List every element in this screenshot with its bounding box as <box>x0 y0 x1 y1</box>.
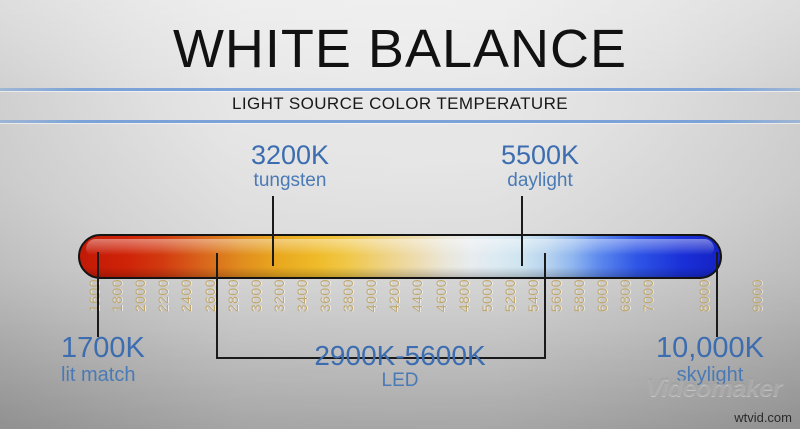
brand-watermark: Videomaker <box>646 374 782 403</box>
callout-daylight: 5500K daylight <box>450 142 630 190</box>
tick-label: 2400 <box>178 279 194 312</box>
white-balance-infographic: WHITE BALANCE LIGHT SOURCE COLOR TEMPERA… <box>0 0 800 429</box>
tick-label: 5600 <box>548 279 564 312</box>
bracket-arm-right <box>544 253 546 359</box>
tick-label: 8000 <box>696 279 712 312</box>
callout-led-temp: 2900K-5600K <box>265 342 535 371</box>
callout-led: 2900K-5600K LED <box>265 342 535 390</box>
tick-label: 7000 <box>640 279 656 312</box>
tick-label: 9000 <box>749 279 765 312</box>
tick-label: 6800 <box>617 279 633 312</box>
callout-lit-match: 1700K lit match <box>45 334 251 385</box>
callout-skylight-temp: 10,000K <box>622 334 798 364</box>
site-watermark: wtvid.com <box>734 410 792 425</box>
tick-label: 1600 <box>86 279 102 312</box>
pointer-line-skylight <box>716 252 718 337</box>
page-subtitle: LIGHT SOURCE COLOR TEMPERATURE <box>0 94 800 114</box>
divider-top <box>0 88 800 91</box>
tick-label: 5800 <box>571 279 587 312</box>
callout-daylight-temp: 5500K <box>450 142 630 170</box>
page-title: WHITE BALANCE <box>0 22 800 76</box>
divider-bottom <box>0 120 800 123</box>
callout-daylight-name: daylight <box>450 171 630 190</box>
tick-label: 1800 <box>109 279 125 312</box>
callout-tungsten-name: tungsten <box>200 171 380 190</box>
tick-label: 6000 <box>594 279 610 312</box>
pointer-line-lit-match <box>97 252 99 337</box>
tick-label: 2000 <box>132 279 148 312</box>
callout-tungsten-temp: 3200K <box>200 142 380 170</box>
callout-tungsten: 3200K tungsten <box>200 142 380 190</box>
callout-led-name: LED <box>265 371 535 390</box>
callout-lit-match-name: lit match <box>61 365 251 385</box>
tick-label: 2200 <box>155 279 171 312</box>
callout-lit-match-temp: 1700K <box>61 334 251 364</box>
